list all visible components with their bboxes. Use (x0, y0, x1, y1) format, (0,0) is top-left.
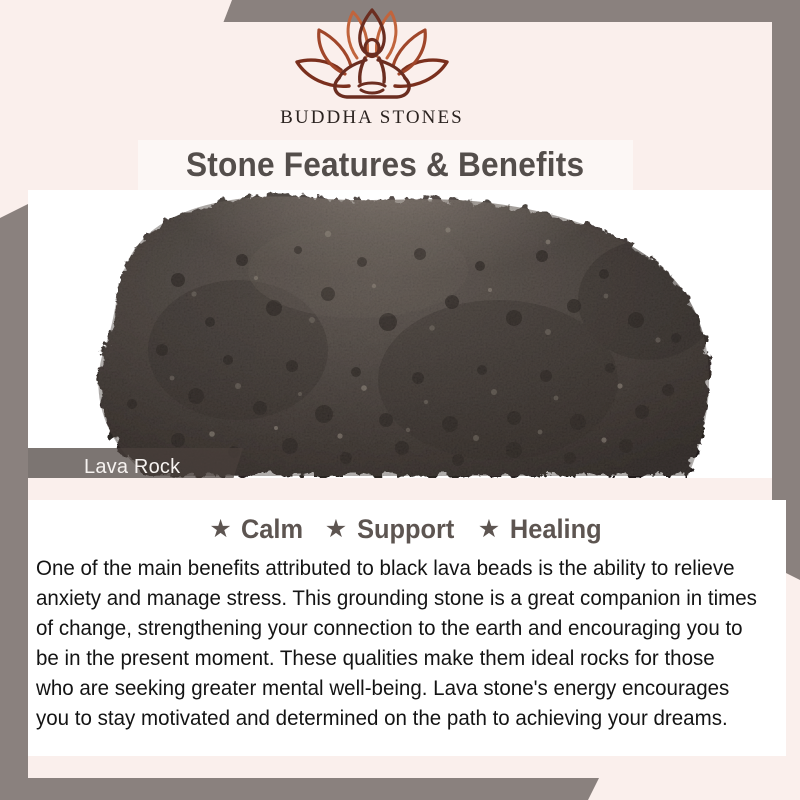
keyword-row: ★ Calm ★ Support ★ Healing (28, 500, 786, 545)
lava-rock-photo (28, 190, 772, 478)
benefits-paragraph: One of the main benefits attributed to b… (36, 553, 758, 733)
keyword-healing: ★ Healing (478, 514, 605, 545)
lotus-meditation-figure-icon (287, 8, 457, 105)
title-plate: Stone Features & Benefits (138, 140, 633, 190)
photo-caption: Lava Rock (84, 456, 180, 479)
keyword-support: ★ Support (325, 514, 458, 545)
poster-root: BUDDHA STONES Stone Features & Benefits (0, 0, 800, 800)
keyword-label: Support (357, 514, 454, 545)
keyword-label: Healing (510, 514, 602, 545)
keyword-label: Calm (241, 514, 303, 545)
star-icon: ★ (478, 517, 500, 542)
section-divider (28, 478, 772, 500)
brand-name: BUDDHA STONES (280, 107, 464, 129)
page-title: Stone Features & Benefits (186, 146, 584, 185)
benefits-panel: ★ Calm ★ Support ★ Healing One of the ma… (28, 500, 786, 756)
keyword-calm: ★ Calm (209, 514, 304, 545)
star-icon: ★ (325, 517, 347, 542)
star-icon: ★ (209, 517, 231, 542)
brand-logo: BUDDHA STONES (0, 0, 744, 138)
